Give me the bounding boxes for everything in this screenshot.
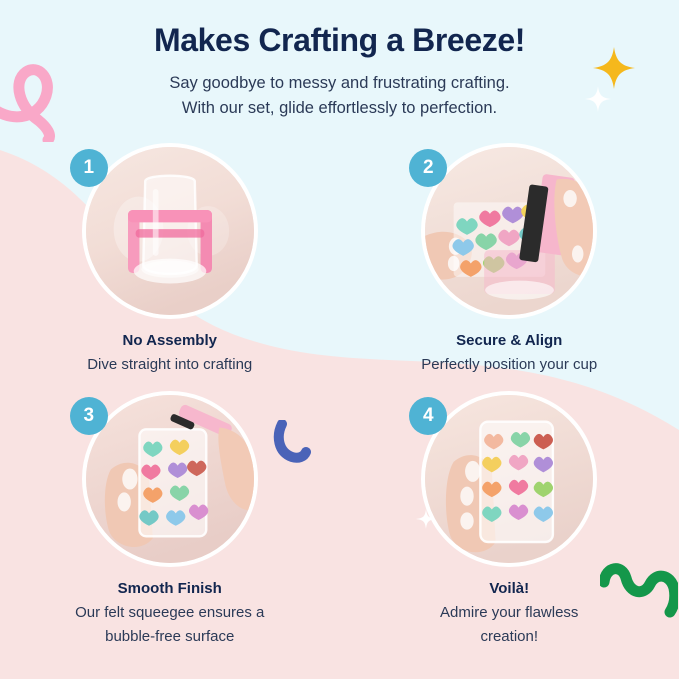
step-card-1: 1 <box>0 143 340 375</box>
step-4-title: Voilà! <box>440 579 578 599</box>
step-1-photo-wrap: 1 <box>82 143 258 319</box>
subtitle-line-2: With our set, glide effortlessly to perf… <box>0 96 679 121</box>
step-1-number-badge: 1 <box>70 149 108 187</box>
steps-grid: 1 <box>0 143 679 647</box>
step-4-text-line-2: creation! <box>440 626 578 647</box>
step-1-title: No Assembly <box>87 331 252 351</box>
step-2-photo <box>421 143 597 319</box>
page-title: Makes Crafting a Breeze! <box>0 22 679 59</box>
step-4-caption: Voilà! Admire your flawless creation! <box>440 579 578 647</box>
step-3-photo <box>82 391 258 567</box>
step-4-photo-wrap: 4 <box>421 391 597 567</box>
step-card-2: 2 <box>340 143 679 375</box>
step-1-photo <box>82 143 258 319</box>
step-4-text-line-1: Admire your flawless <box>440 602 578 623</box>
step-3-title: Smooth Finish <box>75 579 264 599</box>
step-1-text-line-1: Dive straight into crafting <box>87 354 252 375</box>
step-2-caption: Secure & Align Perfectly position your c… <box>421 331 597 375</box>
page-subtitle: Say goodbye to messy and frustrating cra… <box>0 71 679 121</box>
step-2-title: Secure & Align <box>421 331 597 351</box>
step-card-3: 3 <box>0 385 340 647</box>
step-4-photo <box>421 391 597 567</box>
subtitle-line-1: Say goodbye to messy and frustrating cra… <box>0 71 679 96</box>
step-card-4: 4 <box>340 385 679 647</box>
step-3-text-line-2: bubble-free surface <box>75 626 264 647</box>
header: Makes Crafting a Breeze! Say goodbye to … <box>0 0 679 121</box>
step-3-caption: Smooth Finish Our felt squeegee ensures … <box>75 579 264 647</box>
step-1-caption: No Assembly Dive straight into crafting <box>87 331 252 375</box>
step-3-number-badge: 3 <box>70 397 108 435</box>
step-2-text-line-1: Perfectly position your cup <box>421 354 597 375</box>
step-3-photo-wrap: 3 <box>82 391 258 567</box>
step-3-text-line-1: Our felt squeegee ensures a <box>75 602 264 623</box>
step-2-photo-wrap: 2 <box>421 143 597 319</box>
